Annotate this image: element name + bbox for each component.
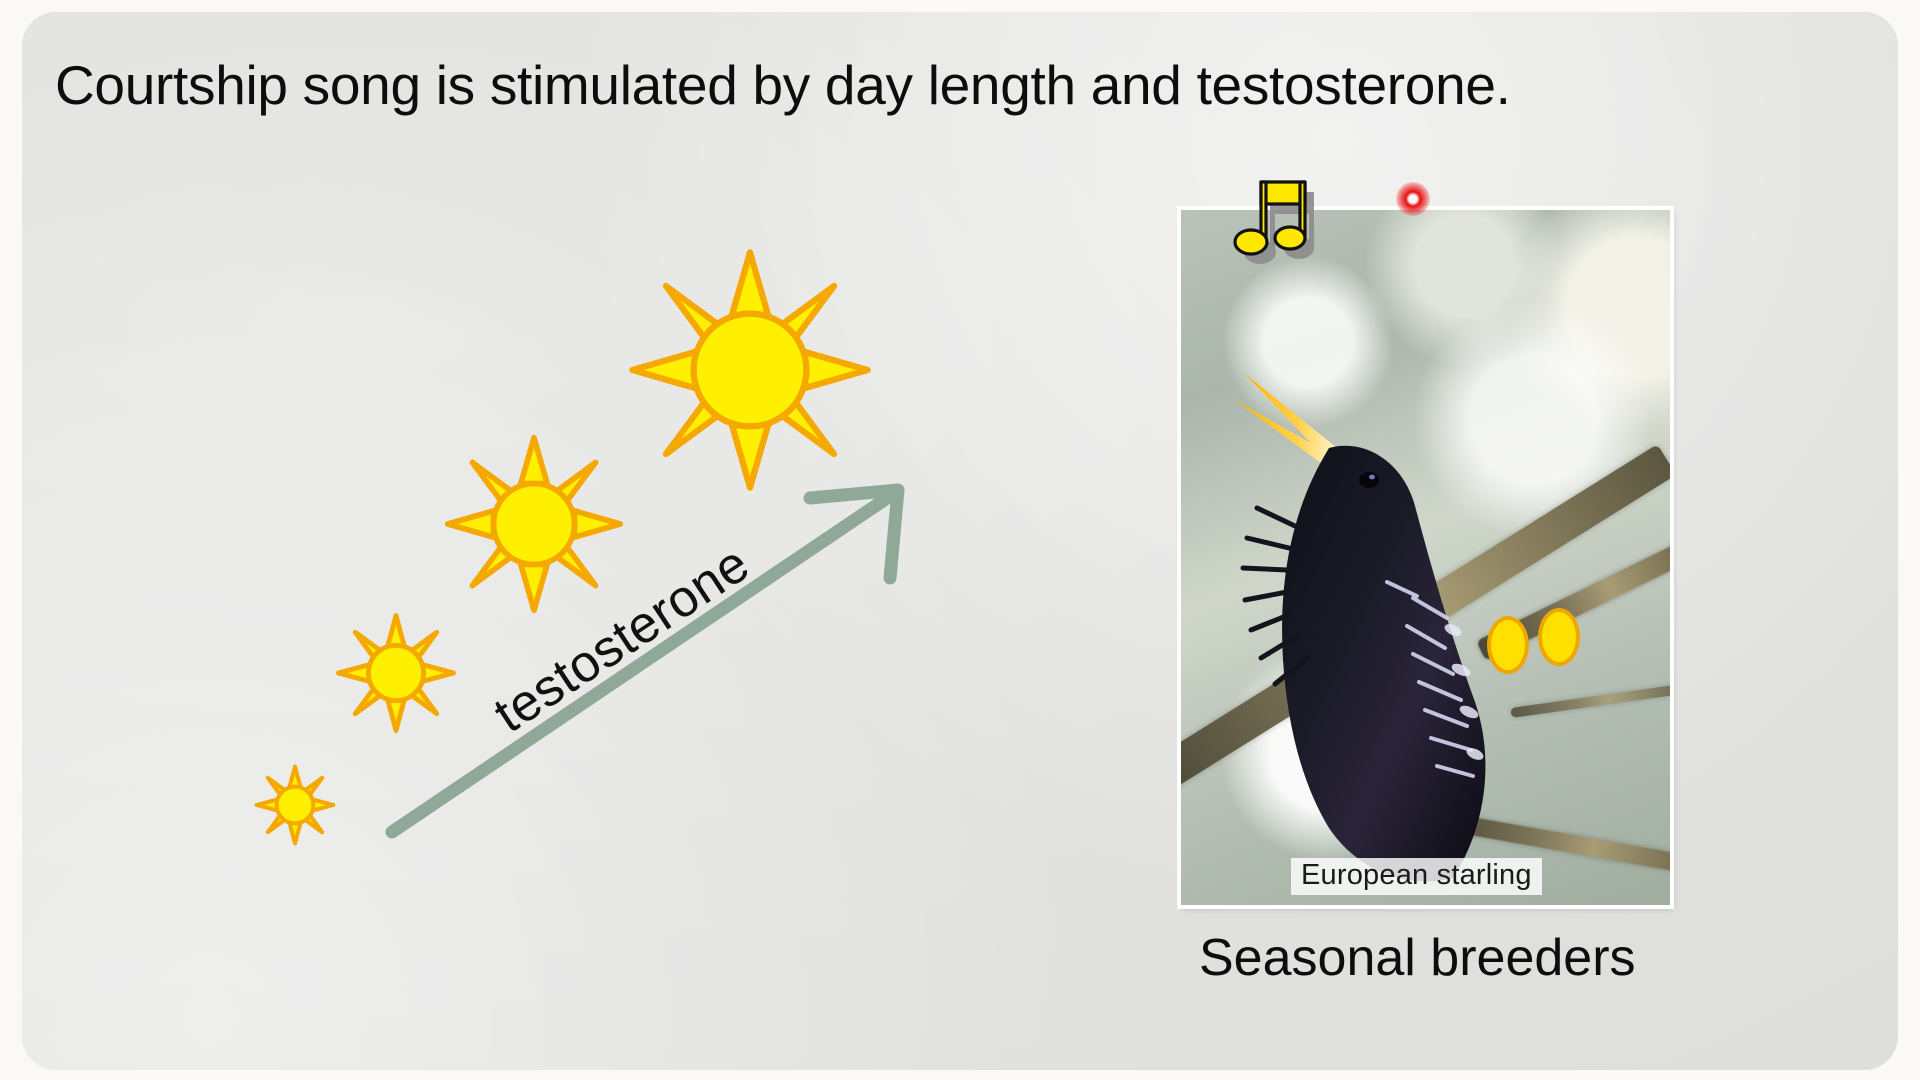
testes-annotation-left [1487,616,1529,674]
bird-photo-figure: European starling [1181,210,1670,905]
music-note-icon [1226,174,1318,266]
starling-bird [1217,330,1547,890]
testosterone-arrow [370,470,930,850]
testes-annotation-right [1538,608,1580,666]
sun-icon-large [630,250,870,490]
sun-icon-xsmall [255,765,335,845]
photo-frame: European starling [1181,210,1670,905]
photo-caption: European starling [1291,858,1542,895]
seasonal-breeders-caption: Seasonal breeders [1199,928,1636,988]
slide-root: Courtship song is stimulated by day leng… [0,0,1920,1080]
laser-pointer-dot [1396,182,1430,216]
page-title: Courtship song is stimulated by day leng… [55,55,1845,116]
